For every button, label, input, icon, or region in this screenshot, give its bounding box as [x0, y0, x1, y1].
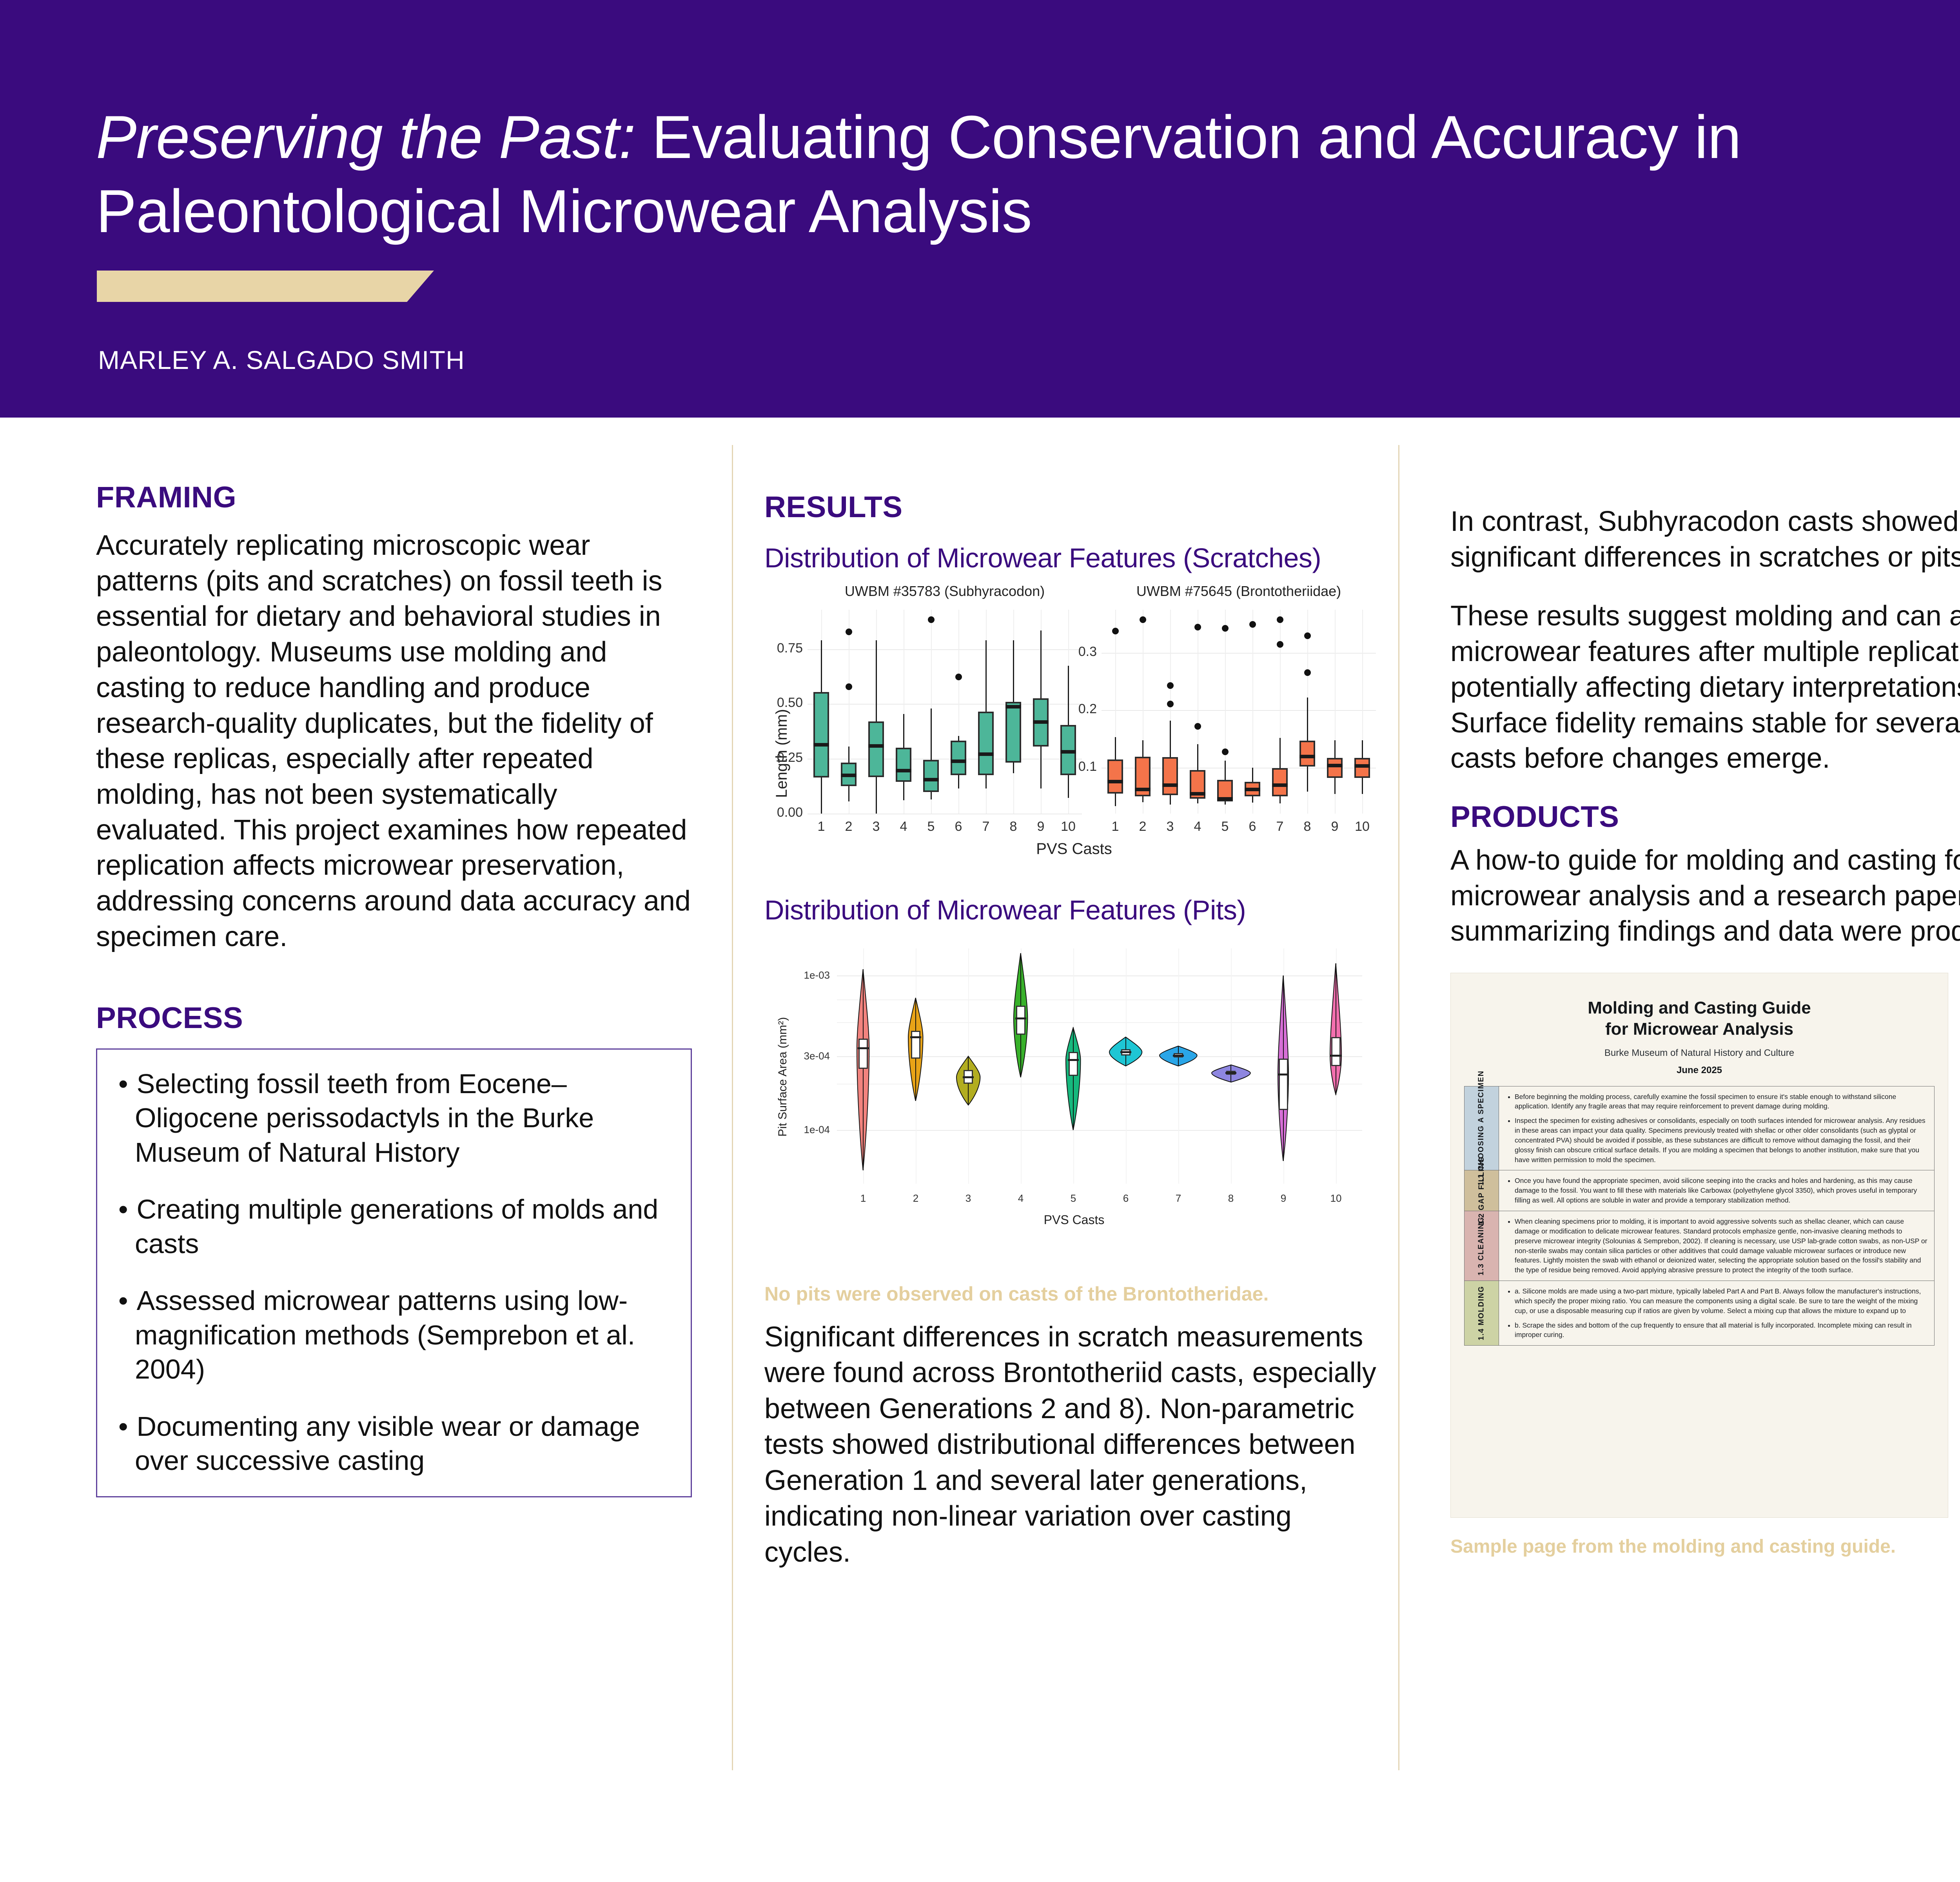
guide-bullet-list: Once you have found the appropriate spec…: [1507, 1176, 1928, 1205]
violin-box: [1279, 1059, 1288, 1110]
column-results: RESULTS Distribution of Microwear Featur…: [764, 490, 1384, 1570]
guide-subtitle: Burke Museum of Natural History and Cult…: [1464, 1048, 1935, 1059]
median-line: [1033, 720, 1049, 724]
x-tick-label: 3: [953, 1192, 984, 1204]
median-line: [1354, 764, 1370, 768]
y-tick-label: 0.50: [760, 695, 803, 710]
y-tick-label: 1e-04: [778, 1124, 830, 1136]
x-tick-label: 5: [915, 819, 947, 834]
violin-median: [1120, 1051, 1131, 1053]
list-item: Creating multiple generations of molds a…: [111, 1192, 675, 1261]
outlier-point: [1140, 616, 1146, 623]
box: [868, 721, 884, 777]
guide-section-tab: 1.4 MOLDING: [1465, 1281, 1499, 1345]
outlier-point: [1277, 641, 1283, 648]
violin-median: [963, 1076, 974, 1078]
scratches-boxplot-figure: Length (mm)PVS CastsUWBM #35783 (Subhyra…: [764, 581, 1384, 894]
median-line: [1190, 792, 1205, 796]
guide-title-line2: for Microwear Analysis: [1605, 1019, 1793, 1039]
guide-section-body: a. Silicone molds are made using a two-p…: [1499, 1281, 1934, 1345]
molding-guide-preview: Molding and Casting Guide for Microwear …: [1450, 973, 1948, 1518]
x-tick-label: 1: [848, 1192, 879, 1204]
column-discussion-products: In contrast, Subhyracodon casts showed n…: [1450, 504, 1960, 1557]
list-item: When cleaning specimens prior to molding…: [1515, 1217, 1928, 1275]
guide-bullet-list: a. Silicone molds are made using a two-p…: [1507, 1286, 1928, 1340]
outlier-point: [1249, 621, 1256, 628]
x-tick-label: 10: [1347, 819, 1378, 834]
page-title: Preserving the Past: Evaluating Conserva…: [96, 100, 1960, 248]
x-tick-label: 6: [1110, 1192, 1142, 1204]
guide-section-body: When cleaning specimens prior to molding…: [1499, 1211, 1934, 1281]
products-body-text: A how-to guide for molding and casting f…: [1450, 843, 1960, 949]
pits-chart-title: Distribution of Microwear Features (Pits…: [764, 894, 1384, 926]
median-line: [951, 759, 966, 763]
box: [923, 760, 939, 792]
x-tick-label: 2: [833, 819, 864, 834]
page-title-italic: Preserving the Past:: [96, 103, 635, 171]
violin-median: [1173, 1055, 1184, 1057]
median-line: [1245, 788, 1260, 791]
axis-label-x: PVS Casts: [764, 840, 1384, 858]
median-line: [1005, 705, 1021, 708]
outlier-point: [1222, 625, 1229, 632]
x-tick-label: 9: [1268, 1192, 1299, 1204]
framing-body-text: Accurately replicating microscopic wear …: [96, 528, 692, 955]
products-heading: PRODUCTS: [1450, 800, 1960, 834]
y-tick-label: 1e-03: [778, 969, 830, 981]
median-line: [868, 744, 884, 748]
guide-bullet-list: When cleaning specimens prior to molding…: [1507, 1217, 1928, 1275]
x-tick-label: 6: [1237, 819, 1268, 834]
violin-range-line: [863, 969, 864, 1170]
outlier-point: [1112, 628, 1119, 634]
x-tick-label: 1: [806, 819, 837, 834]
x-tick-label: 7: [1163, 1192, 1194, 1204]
x-tick-label: 4: [1182, 819, 1213, 834]
x-tick-label: 9: [1025, 819, 1056, 834]
guide-section-row: 1.4 MOLDINGa. Silicone molds are made us…: [1465, 1281, 1934, 1345]
violin-box: [858, 1039, 868, 1068]
violin-median: [1225, 1072, 1236, 1074]
guide-section-label: 1.4 MOLDING: [1477, 1286, 1486, 1341]
guide-section-tab: 1.3 CLEANING: [1465, 1211, 1499, 1281]
process-box: Selecting fossil teeth from Eocene–Oligo…: [96, 1048, 692, 1497]
outlier-point: [846, 629, 852, 635]
median-line: [923, 778, 939, 781]
box: [896, 748, 911, 782]
x-tick-label: 2: [900, 1192, 931, 1204]
box: [1354, 758, 1370, 778]
median-line: [813, 743, 829, 747]
title-accent-rule: [97, 271, 434, 302]
y-tick-label: 0.00: [760, 805, 803, 820]
list-item: b. Scrape the sides and bottom of the cu…: [1515, 1321, 1928, 1340]
box: [1162, 757, 1178, 795]
y-tick-label: 0.1: [1054, 759, 1097, 774]
x-tick-label: 6: [943, 819, 974, 834]
median-line: [978, 752, 994, 756]
box: [813, 692, 829, 778]
poster-header-banner: Preserving the Past: Evaluating Conserva…: [0, 0, 1960, 418]
median-line: [1135, 788, 1151, 791]
title-block: Preserving the Past: Evaluating Conserva…: [96, 100, 1960, 248]
list-item: a. Silicone molds are made using a two-p…: [1515, 1286, 1928, 1316]
x-tick-label: 1: [1100, 819, 1131, 834]
median-line: [1272, 783, 1288, 787]
violin-range-line: [1073, 1028, 1074, 1130]
box: [1272, 768, 1288, 796]
guide-section-row: 1.2 GAP FILLINGOnce you have found the a…: [1465, 1170, 1934, 1211]
x-tick-label: 10: [1320, 1192, 1352, 1204]
author-name: MARLEY A. SALGADO SMITH: [98, 345, 465, 375]
outlier-point: [846, 683, 852, 690]
axis-label-y: Pit Surface Area (mm²): [776, 1017, 789, 1137]
x-tick-label: 7: [1264, 819, 1296, 834]
guide-section-table: 1.1 CHOOSING A SPECIMENBefore beginning …: [1464, 1086, 1935, 1346]
panel-title: UWBM #75645 (Brontotheriidae): [1102, 583, 1376, 599]
guide-bullet-list: Before beginning the molding process, ca…: [1507, 1092, 1928, 1165]
y-tick-label: 0.75: [760, 641, 803, 656]
guide-title-line1: Molding and Casting Guide: [1588, 998, 1811, 1017]
process-bullet-list: Selecting fossil teeth from Eocene–Oligo…: [111, 1067, 675, 1478]
x-tick-label: 3: [1154, 819, 1186, 834]
panel-title: UWBM #35783 (Subhyracodon): [808, 583, 1082, 599]
box: [1327, 758, 1343, 778]
outlier-point: [1167, 701, 1174, 707]
x-tick-label: 9: [1319, 819, 1350, 834]
y-tick-label: 0.2: [1054, 701, 1097, 717]
median-line: [1107, 780, 1123, 783]
violin-median: [858, 1047, 869, 1049]
x-tick-label: 5: [1058, 1192, 1089, 1204]
median-line: [1327, 764, 1343, 767]
violin-box: [1069, 1052, 1078, 1075]
list-item: Selecting fossil teeth from Eocene–Oligo…: [111, 1067, 675, 1170]
y-tick-label: 3e-04: [778, 1050, 830, 1062]
discussion-paragraph-2: These results suggest molding and can al…: [1450, 598, 1960, 776]
outlier-point: [1194, 624, 1201, 630]
median-line: [1060, 750, 1076, 754]
median-line: [1299, 755, 1315, 758]
pits-violin-figure: Pit Surface Area (mm²)PVS Casts1e-043e-0…: [764, 933, 1384, 1278]
violin-median: [1015, 1017, 1026, 1019]
outlier-point: [955, 674, 962, 680]
column-framing-process: FRAMING Accurately replicating microscop…: [96, 480, 692, 1497]
no-pits-note: No pits were observed on casts of the Br…: [764, 1283, 1384, 1305]
process-heading: PROCESS: [96, 1001, 692, 1035]
list-item: Before beginning the molding process, ca…: [1515, 1092, 1928, 1112]
results-paragraph: Significant differences in scratch measu…: [764, 1319, 1384, 1570]
guide-caption: Sample page from the molding and casting…: [1450, 1536, 1960, 1557]
y-tick-label: 0.3: [1054, 644, 1097, 659]
guide-section-body: Before beginning the molding process, ca…: [1499, 1086, 1934, 1170]
x-tick-label: 3: [860, 819, 892, 834]
column-divider-2: [1398, 445, 1399, 1770]
box: [1107, 759, 1123, 793]
violin-median: [1330, 1055, 1341, 1057]
x-tick-label: 8: [1292, 819, 1323, 834]
x-tick-label: 8: [1215, 1192, 1247, 1204]
guide-section-row: 1.3 CLEANINGWhen cleaning specimens prio…: [1465, 1211, 1934, 1281]
violin-box: [1331, 1037, 1341, 1066]
x-tick-label: 7: [970, 819, 1002, 834]
x-tick-label: 4: [1005, 1192, 1036, 1204]
x-tick-label: 4: [888, 819, 919, 834]
list-item: Once you have found the appropriate spec…: [1515, 1176, 1928, 1205]
violin-range-line: [1336, 963, 1336, 1094]
violin-box: [1016, 1006, 1025, 1035]
guide-section-label: 1.2 GAP FILLING: [1477, 1156, 1486, 1225]
box: [978, 712, 994, 775]
outlier-point: [1222, 748, 1229, 755]
discussion-paragraph-1: In contrast, Subhyracodon casts showed n…: [1450, 504, 1960, 575]
violin-median: [1278, 1074, 1289, 1075]
box: [951, 741, 966, 775]
x-tick-label: 8: [998, 819, 1029, 834]
box: [1299, 741, 1315, 767]
pits-chart-block: Distribution of Microwear Features (Pits…: [764, 894, 1384, 1278]
median-line: [1162, 783, 1178, 787]
violin-median: [1068, 1059, 1079, 1061]
scratches-chart-title: Distribution of Microwear Features (Scra…: [764, 542, 1384, 574]
outlier-point: [1277, 616, 1283, 623]
outlier-point: [1304, 632, 1311, 639]
list-item: Documenting any visible wear or damage o…: [111, 1410, 675, 1478]
median-line: [896, 769, 911, 772]
y-tick-label: 0.25: [760, 750, 803, 765]
median-line: [1217, 797, 1233, 801]
median-line: [841, 774, 857, 777]
guide-title: Molding and Casting Guide for Microwear …: [1464, 997, 1935, 1039]
x-tick-label: 5: [1209, 819, 1241, 834]
x-tick-label: 2: [1127, 819, 1158, 834]
x-tick-label: 10: [1053, 819, 1084, 834]
column-divider-1: [732, 445, 733, 1770]
outlier-point: [1194, 723, 1201, 730]
outlier-point: [1167, 682, 1174, 689]
guide-section-tab: 1.2 GAP FILLING: [1465, 1170, 1499, 1211]
gridline: [808, 814, 1082, 814]
results-heading: RESULTS: [764, 490, 1384, 524]
outlier-point: [928, 616, 935, 623]
scratches-chart-block: Distribution of Microwear Features (Scra…: [764, 542, 1384, 894]
guide-section-label: 1.3 CLEANING: [1477, 1216, 1486, 1275]
guide-section-body: Once you have found the appropriate spec…: [1499, 1170, 1934, 1211]
violin-box: [911, 1031, 920, 1059]
box: [1005, 702, 1021, 763]
list-item: Assessed microwear patterns using low-ma…: [111, 1284, 675, 1387]
guide-date: June 2025: [1464, 1065, 1935, 1076]
list-item: Inspect the specimen for existing adhesi…: [1515, 1116, 1928, 1164]
guide-section-row: 1.1 CHOOSING A SPECIMENBefore beginning …: [1465, 1086, 1934, 1171]
violin-median: [910, 1036, 921, 1038]
outlier-point: [1304, 669, 1311, 676]
framing-heading: FRAMING: [96, 480, 692, 514]
axis-label-x: PVS Casts: [764, 1213, 1384, 1227]
